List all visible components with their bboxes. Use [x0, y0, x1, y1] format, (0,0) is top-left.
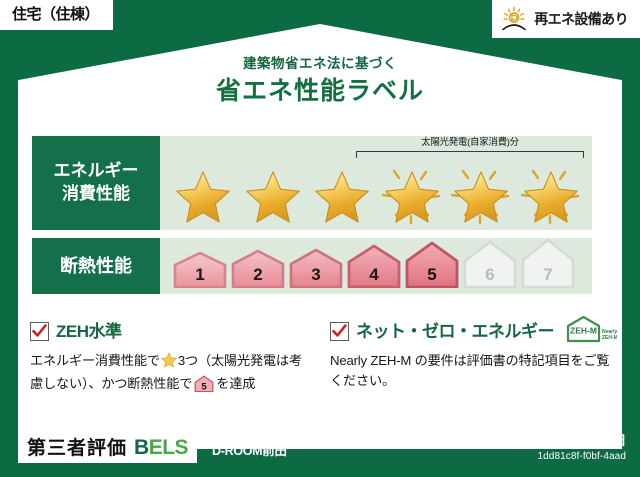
solar-star-icon [518, 164, 584, 226]
claim-title: ネット・ゼロ・エネルギー [356, 323, 554, 340]
claim-zeh-standard: ZEH水準 エネルギー消費性能で3つ（太陽光発電は考慮しない）、かつ断熱性能で5… [30, 318, 314, 399]
solar-bracket-line [356, 151, 584, 158]
checkbox-checked-icon [30, 322, 49, 341]
star-icon [240, 164, 306, 226]
insulation-badge-inline: 5 [194, 375, 214, 398]
insulation-badge-1: 1 [172, 250, 228, 288]
energy-label-line2: 消費性能 [62, 183, 130, 206]
label-subtitle: 建築物省エネ法に基づく [0, 56, 640, 72]
claim-header: ネット・ゼロ・エネルギー ZEH-M Nearly ZEH-M [330, 318, 614, 344]
claim-body: エネルギー消費性能で3つ（太陽光発電は考慮しない）、かつ断熱性能で5を達成 [30, 351, 314, 399]
bels-logo-els: ELS [149, 436, 188, 459]
energy-performance-rating-panel: 太陽光発電(自家消費)分 [160, 136, 592, 230]
energy-performance-label: 住宅（住棟） 再エネ設備あり 建築物省エネ法に基づく [0, 0, 640, 477]
energy-performance-label-box: エネルギー 消費性能 [32, 136, 160, 230]
solar-star-icon [448, 164, 514, 226]
evaluation-id: 1dd81c8f-f0bf-4aad [500, 450, 626, 464]
insulation-badge-value: 2 [230, 266, 286, 283]
claim-net-zero-energy: ネット・ゼロ・エネルギー ZEH-M Nearly ZEH-M Nearly Z… [330, 318, 614, 399]
svg-text:ZEH-M: ZEH-M [602, 335, 617, 341]
claim-body-part1: エネルギー消費性能で [30, 353, 160, 368]
bels-logo: BELS [134, 437, 188, 458]
star-icon [161, 352, 177, 374]
insulation-badge-3: 3 [288, 247, 344, 288]
renewable-equipment-badge: 再エネ設備あり [492, 0, 640, 38]
building-type-tag: 住宅（住棟） [0, 0, 113, 30]
claim-title: ZEH水準 [56, 323, 122, 340]
star-rating [166, 164, 588, 226]
insulation-badge-7: 7 [520, 237, 576, 288]
insulation-performance-rating-panel: 1 2 [160, 238, 592, 294]
insulation-badge-value: 4 [346, 266, 402, 283]
building-name: D-ROOM前田 [212, 445, 287, 458]
bels-third-party-tag: 第三者評価 BELS [18, 433, 197, 463]
performance-rows: エネルギー 消費性能 太陽光発電(自家消費)分 [32, 136, 592, 294]
evaluation-date: 評価日 2025年6月2日 [500, 433, 626, 449]
insulation-badge-4: 4 [346, 243, 402, 288]
energy-label-line1: エネルギー [54, 160, 139, 183]
footer-bar: 第三者評価 BELS D-ROOM前田 評価日 2025年6月2日 1dd81c… [0, 427, 640, 477]
star-icon [309, 164, 375, 226]
svg-text:ZEH-M: ZEH-M [570, 325, 597, 335]
renewable-equipment-label: 再エネ設備あり [534, 12, 628, 26]
checkbox-checked-icon [330, 322, 349, 341]
insulation-badge-6: 6 [462, 239, 518, 288]
insulation-badge-value: 5 [404, 266, 460, 283]
insulation-badge-value: 7 [520, 266, 576, 283]
solar-bracket: 太陽光発電(自家消費)分 [356, 138, 584, 164]
insulation-performance-row: 断熱性能 1 [32, 238, 592, 294]
insulation-badge-5: 5 [404, 240, 460, 288]
label-title: 省エネ性能ラベル [0, 77, 640, 106]
insulation-badge-2: 2 [230, 248, 286, 288]
third-party-label: 第三者評価 [27, 439, 127, 458]
sun-icon [500, 6, 528, 32]
insulation-badge-value: 6 [462, 266, 518, 283]
energy-performance-row: エネルギー 消費性能 太陽光発電(自家消費)分 [32, 136, 592, 230]
claims-section: ZEH水準 エネルギー消費性能で3つ（太陽光発電は考慮しない）、かつ断熱性能で5… [30, 318, 614, 399]
star-icon [170, 164, 236, 226]
claim-body-part3: を達成 [216, 376, 255, 391]
insulation-performance-label-box: 断熱性能 [32, 238, 160, 294]
insulation-badge-value: 3 [288, 266, 344, 283]
insulation-badge-value: 1 [172, 266, 228, 283]
title-block: 建築物省エネ法に基づく 省エネ性能ラベル [0, 56, 640, 106]
solar-star-icon [379, 164, 445, 226]
evaluation-info: 評価日 2025年6月2日 1dd81c8f-f0bf-4aad [500, 433, 626, 464]
bels-logo-b: B [134, 436, 149, 459]
svg-text:5: 5 [202, 382, 208, 392]
claim-header: ZEH水準 [30, 318, 314, 344]
claim-body: Nearly ZEH-M の要件は評価書の特記項目をご覧ください。 [330, 351, 614, 392]
insulation-label: 断熱性能 [60, 254, 132, 278]
solar-bracket-label: 太陽光発電(自家消費)分 [356, 138, 584, 148]
zeh-m-logo-icon: ZEH-M Nearly ZEH-M [565, 315, 617, 348]
insulation-level-badges: 1 2 [172, 237, 576, 288]
